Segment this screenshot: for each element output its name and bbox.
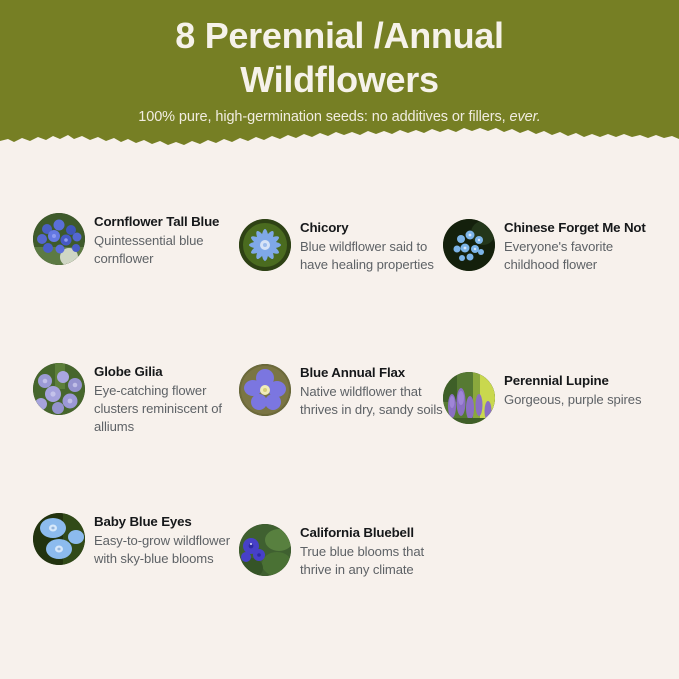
- torn-paper-edge-icon: [0, 119, 679, 152]
- wildflower-item-baby-blue-eyes[interactable]: Baby Blue Eyes Easy-to-grow wildflower w…: [33, 513, 245, 568]
- item-title: Globe Gilia: [94, 363, 245, 381]
- page-title: 8 Perennial /Annual Wildflowers: [40, 14, 640, 102]
- header-content: 8 Perennial /Annual Wildflowers 100% pur…: [0, 0, 679, 130]
- item-description: Native wildflower that thrives in dry, s…: [300, 383, 451, 419]
- wildflower-item-chinese-forget-me-not[interactable]: Chinese Forget Me Not Everyone's favorit…: [443, 219, 655, 274]
- item-title: Baby Blue Eyes: [94, 513, 245, 531]
- item-title: Chicory: [300, 219, 451, 237]
- item-text-block: Perennial Lupine Gorgeous, purple spires: [504, 372, 641, 409]
- page-title-line-2: Wildflowers: [240, 59, 438, 100]
- item-text-block: California Bluebell True blue blooms tha…: [300, 524, 451, 579]
- item-text-block: Globe Gilia Eye-catching flower clusters…: [94, 363, 245, 435]
- wildflower-item-perennial-lupine[interactable]: Perennial Lupine Gorgeous, purple spires: [443, 372, 655, 424]
- item-description: True blue blooms that thrive in any clim…: [300, 543, 451, 579]
- wildflower-row: Baby Blue Eyes Easy-to-grow wildflower w…: [0, 505, 679, 655]
- item-title: Cornflower Tall Blue: [94, 213, 245, 231]
- forget-me-not-thumbnail: [443, 219, 495, 271]
- globe-gilia-thumbnail: [33, 363, 85, 415]
- item-title: Blue Annual Flax: [300, 364, 451, 382]
- item-description: Blue wildflower said to have healing pro…: [300, 238, 451, 274]
- item-description: Quintessential blue cornflower: [94, 232, 245, 268]
- item-title: Chinese Forget Me Not: [504, 219, 655, 237]
- item-title: California Bluebell: [300, 524, 451, 542]
- california-bluebell-thumbnail: [239, 524, 291, 576]
- blue-flax-thumbnail: [239, 364, 291, 416]
- item-description: Gorgeous, purple spires: [504, 391, 641, 409]
- page-title-line-1: 8 Perennial /Annual: [175, 15, 503, 56]
- wildflower-item-cornflower-tall-blue[interactable]: Cornflower Tall Blue Quintessential blue…: [33, 213, 245, 268]
- header-banner: 8 Perennial /Annual Wildflowers 100% pur…: [0, 0, 679, 152]
- item-text-block: Baby Blue Eyes Easy-to-grow wildflower w…: [94, 513, 245, 568]
- item-description: Easy-to-grow wildflower with sky-blue bl…: [94, 532, 245, 568]
- item-text-block: Cornflower Tall Blue Quintessential blue…: [94, 213, 245, 268]
- wildflower-grid: Cornflower Tall Blue Quintessential blue…: [0, 205, 679, 655]
- lupine-thumbnail: [443, 372, 495, 424]
- wildflower-item-chicory[interactable]: Chicory Blue wildflower said to have hea…: [239, 219, 451, 274]
- item-title: Perennial Lupine: [504, 372, 641, 390]
- item-description: Eye-catching flower clusters reminiscent…: [94, 382, 245, 436]
- chicory-thumbnail: [239, 219, 291, 271]
- wildflower-item-california-bluebell[interactable]: California Bluebell True blue blooms tha…: [239, 524, 451, 579]
- wildflower-item-globe-gilia[interactable]: Globe Gilia Eye-catching flower clusters…: [33, 363, 245, 435]
- item-description: Everyone's favorite childhood flower: [504, 238, 655, 274]
- cornflower-thumbnail: [33, 213, 85, 265]
- baby-blue-eyes-thumbnail: [33, 513, 85, 565]
- wildflower-item-blue-annual-flax[interactable]: Blue Annual Flax Native wildflower that …: [239, 364, 451, 419]
- item-text-block: Chinese Forget Me Not Everyone's favorit…: [504, 219, 655, 274]
- wildflower-row: Cornflower Tall Blue Quintessential blue…: [0, 205, 679, 355]
- wildflower-row: Globe Gilia Eye-catching flower clusters…: [0, 355, 679, 505]
- item-text-block: Chicory Blue wildflower said to have hea…: [300, 219, 451, 274]
- item-text-block: Blue Annual Flax Native wildflower that …: [300, 364, 451, 419]
